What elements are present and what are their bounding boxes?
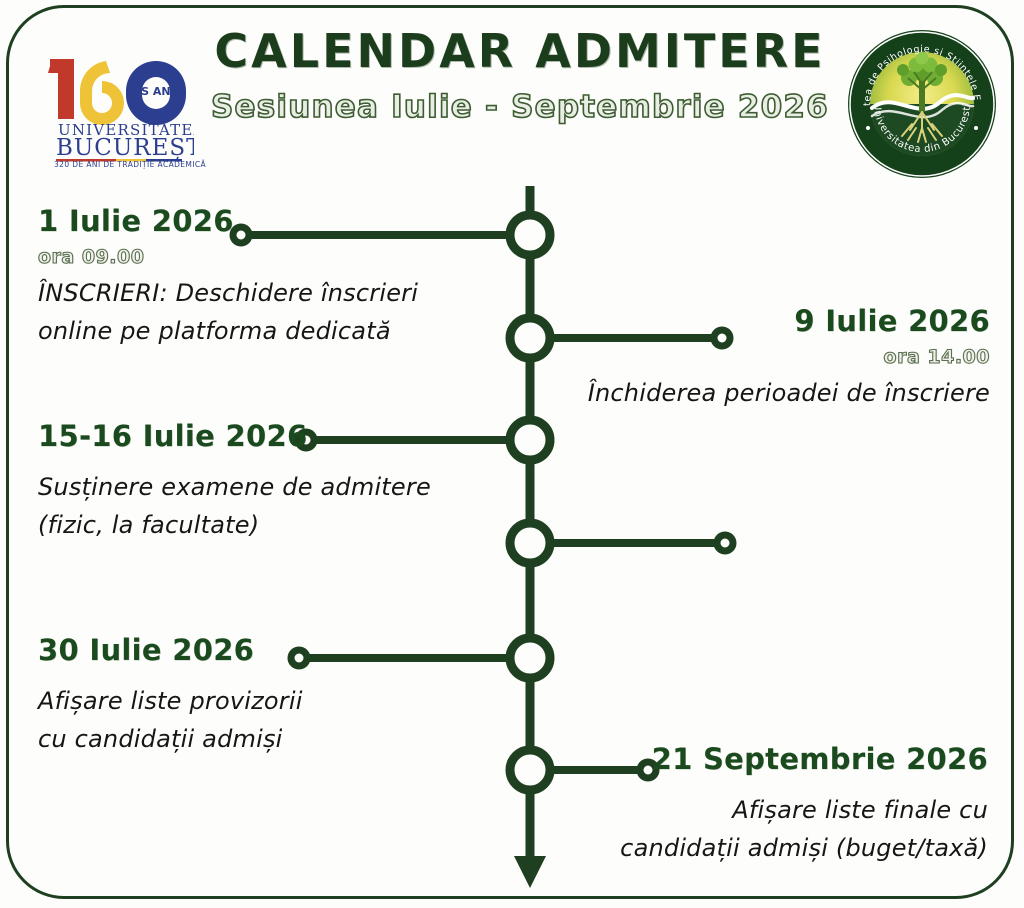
event-time: ora 14.00 xyxy=(530,348,990,367)
ub-logo-line2: BUCUREȘTI xyxy=(56,135,194,161)
timeline-event-30-iulie: 30 Iulie 2026 Afișare liste provizorii c… xyxy=(38,635,498,758)
title-block: CALENDAR ADMITERE Sesiunea Iulie - Septe… xyxy=(200,28,840,123)
event-date: 30 Iulie 2026 xyxy=(38,635,498,665)
event-date: 1 Iulie 2026 xyxy=(38,206,488,236)
event-description: ÎNSCRIERI: Deschidere înscrieri online p… xyxy=(38,275,488,349)
event-description: Închiderea perioadei de înscriere xyxy=(530,375,990,412)
event-description: Susținere examene de admitere (fizic, la… xyxy=(38,469,498,543)
event-date: 21 Septembrie 2026 xyxy=(520,744,988,774)
header: DS ANI UNIVERSITATEA DIN BUCUREȘTI 320 D… xyxy=(0,0,1024,185)
timeline-event-1-iulie: 1 Iulie 2026 ora 09.00 ÎNSCRIERI: Deschi… xyxy=(38,206,488,350)
event-date: 9 Iulie 2026 xyxy=(530,306,990,336)
ub-logo-de-ani: DS ANI xyxy=(132,85,175,98)
event-date: 15-16 Iulie 2026 xyxy=(38,421,498,451)
timeline-event-21-septembrie: 21 Septembrie 2026 Afișare liste finale … xyxy=(520,744,988,867)
faculty-seal-logo: Facultatea de Psihologie si Stiintele Ed… xyxy=(846,28,998,180)
page-title: CALENDAR ADMITERE xyxy=(200,28,840,74)
event-time: ora 09.00 xyxy=(38,248,488,267)
timeline-event-9-iulie: 9 Iulie 2026 ora 14.00 Închiderea perioa… xyxy=(530,306,990,413)
event-description: Afișare liste finale cu candidații admiș… xyxy=(520,792,988,866)
event-description: Afișare liste provizorii cu candidații a… xyxy=(38,683,498,757)
ub-anniversary-logo: DS ANI UNIVERSITATEA DIN BUCUREȘTI 320 D… xyxy=(44,33,194,163)
page-subtitle: Sesiunea Iulie - Septembrie 2026 xyxy=(200,92,840,123)
ub-logo-tagline: 320 DE ANI DE TRADIȚIE ACADEMICĂ xyxy=(54,160,206,169)
calendar-admitere-infographic: DS ANI UNIVERSITATEA DIN BUCUREȘTI 320 D… xyxy=(0,0,1024,908)
timeline-event-15-16-iulie: 15-16 Iulie 2026 Susținere examene de ad… xyxy=(38,421,498,544)
